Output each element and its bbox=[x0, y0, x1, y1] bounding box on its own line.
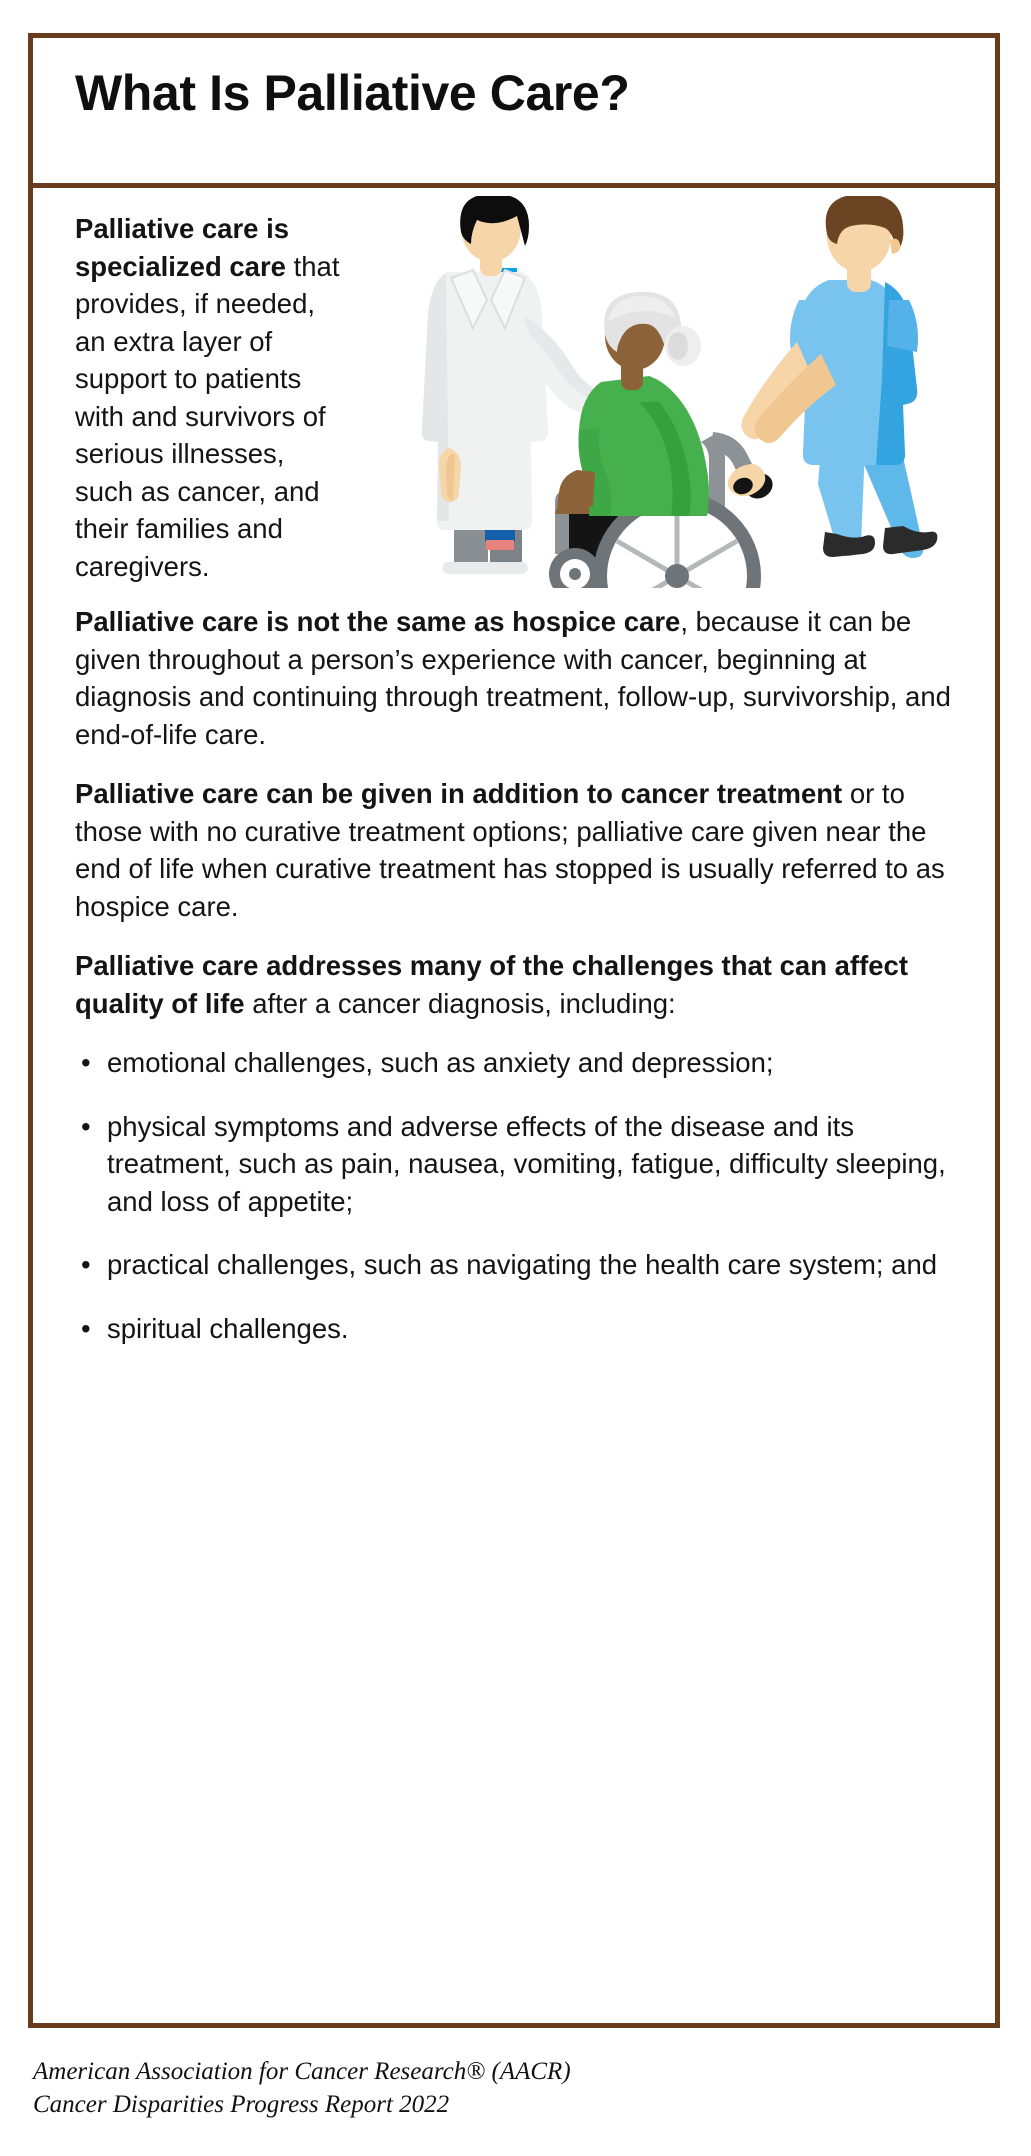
list-item-label: practical challenges, such as navigating… bbox=[107, 1249, 937, 1280]
source-line-1: American Association for Cancer Research… bbox=[33, 2058, 571, 2085]
paragraph-in-addition: Palliative care can be given in addition… bbox=[75, 775, 955, 925]
caregiver-figure bbox=[728, 196, 937, 558]
wheelchair-rear-wheel bbox=[593, 492, 761, 588]
paragraph-definition: Palliative care is specialized care that… bbox=[75, 210, 343, 585]
doctor-figure bbox=[422, 196, 630, 574]
list-item: •spiritual challenges. bbox=[75, 1310, 955, 1348]
content-area: Palliative care is specialized care that… bbox=[33, 188, 995, 1347]
paragraph-not-hospice: Palliative care is not the same as hospi… bbox=[75, 603, 955, 753]
bullet-marker-icon: • bbox=[81, 1108, 91, 1146]
list-item-label: emotional challenges, such as anxiety an… bbox=[107, 1047, 774, 1078]
paragraph-definition-rest: that provides, if needed, an extra layer… bbox=[75, 251, 339, 582]
paragraph-in-addition-lead: Palliative care can be given in addition… bbox=[75, 778, 842, 809]
list-item-label: spiritual challenges. bbox=[107, 1313, 349, 1344]
source-citation: American Association for Cancer Research… bbox=[33, 2055, 571, 2121]
list-item: •practical challenges, such as navigatin… bbox=[75, 1246, 955, 1284]
challenges-list: •emotional challenges, such as anxiety a… bbox=[75, 1044, 955, 1347]
paragraph-challenges-intro-rest: after a cancer diagnosis, including: bbox=[245, 988, 676, 1019]
infographic-root: What Is Palliative Care? bbox=[0, 0, 1031, 2156]
wheelchair-and-patient bbox=[549, 292, 777, 588]
infographic-card: What Is Palliative Care? bbox=[28, 33, 1000, 2028]
paragraph-definition-lead: Palliative care is specialized care bbox=[75, 213, 289, 282]
list-item-label: physical symptoms and adverse effects of… bbox=[107, 1111, 946, 1217]
paragraph-not-hospice-lead: Palliative care is not the same as hospi… bbox=[75, 606, 680, 637]
paragraph-challenges-intro: Palliative care addresses many of the ch… bbox=[75, 947, 955, 1022]
bullet-marker-icon: • bbox=[81, 1246, 91, 1284]
list-item: •emotional challenges, such as anxiety a… bbox=[75, 1044, 955, 1082]
bullet-marker-icon: • bbox=[81, 1044, 91, 1082]
wheelchair-front-caster bbox=[549, 548, 601, 588]
list-item: •physical symptoms and adverse effects o… bbox=[75, 1108, 955, 1221]
source-line-2: Cancer Disparities Progress Report 2022 bbox=[33, 2091, 449, 2118]
title-band: What Is Palliative Care? bbox=[33, 38, 995, 188]
bullet-marker-icon: • bbox=[81, 1310, 91, 1348]
palliative-care-illustration bbox=[387, 196, 977, 588]
page-title: What Is Palliative Care? bbox=[75, 64, 630, 122]
